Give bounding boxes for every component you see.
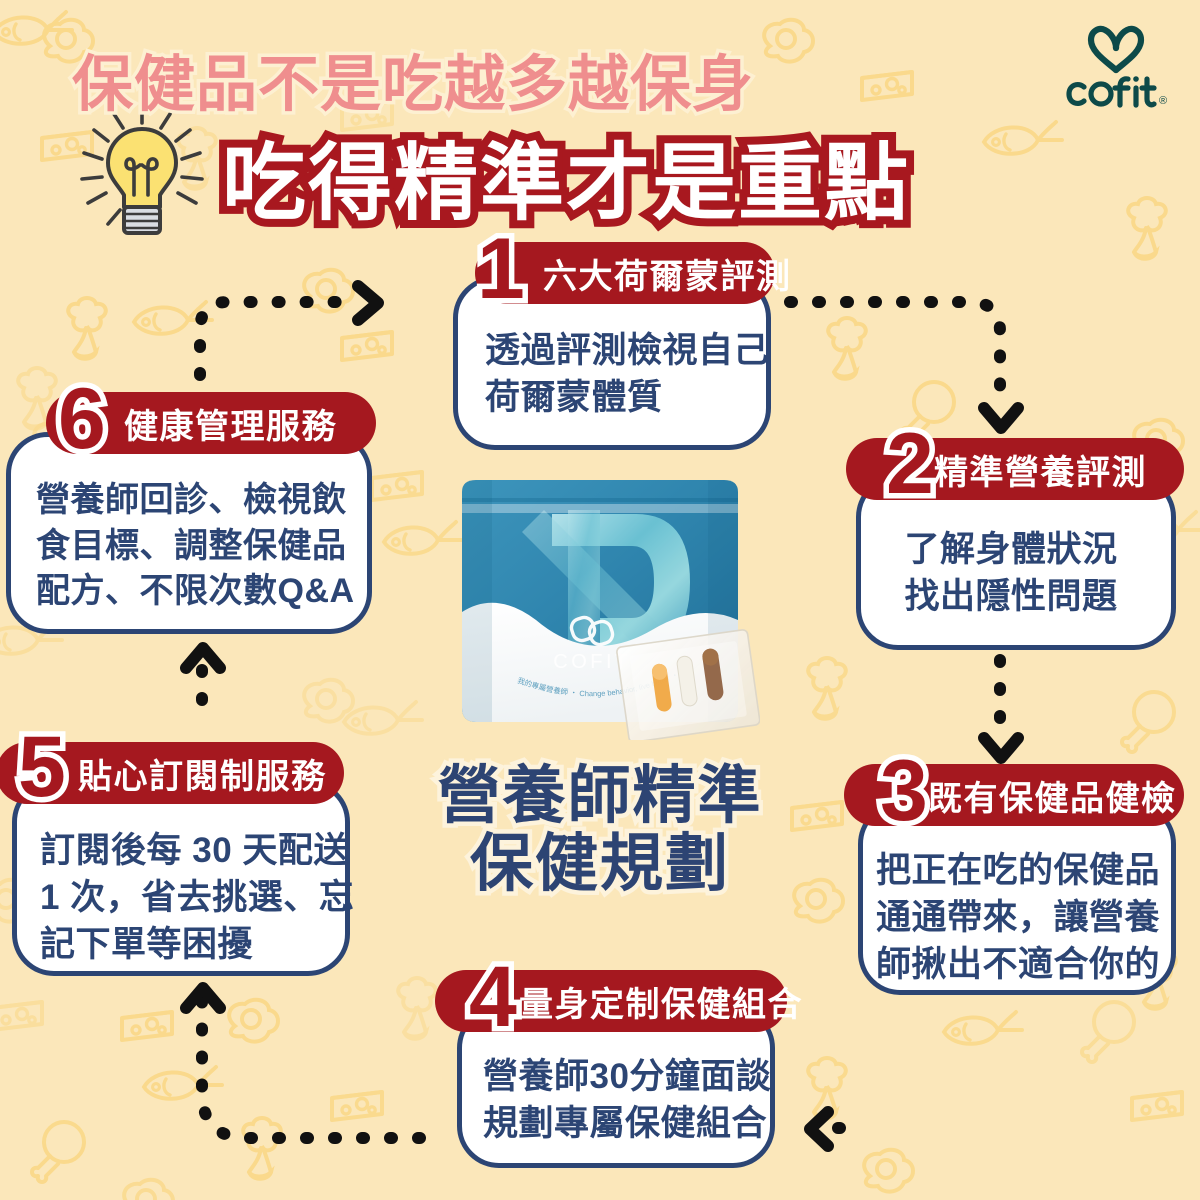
arrowhead-to-1 [358,286,378,320]
step-card-6-text: 營養師回診、檢視飲 食目標、調整保健品 配方、不限次數Q&A [36,478,355,615]
step-card-3-text: 把正在吃的保健品 通通帶來，讓營養 師揪出不適合你的 [876,848,1160,989]
arrow-4-to-5-path [202,1000,420,1138]
cofit-heart-loops-icon [1085,24,1147,74]
arrow-6-to-1-path [200,302,352,375]
step-card-4-title: 量身定制保健組合 [519,977,803,1026]
step-card-5-title: 貼心訂閱制服務 [78,749,327,798]
infographic-canvas: ® 保健品不是吃越多越保身 吃得精準才是重點 [0,0,1200,1200]
step-card-3[interactable]: 既有保健品健檢 3 把正在吃的保健品 通通帶來，讓營養 師揪出不適合你的 [844,750,1184,995]
arrow-1-to-2-path [790,302,1000,400]
page-title: 吃得精準才是重點 [222,116,910,237]
headline-eyebrow: 保健品不是吃越多越保身 [72,34,754,123]
step-card-5[interactable]: 貼心訂閱制服務 5 訂閱後每 30 天配送 1 次，省去挑選、忘 記下單等困擾 [0,730,372,976]
step-number-4: 4 [469,954,517,1040]
step-card-6-title: 健康管理服務 [124,399,337,448]
step-card-1-text: 透過評測檢視自己 荷爾蒙體質 [485,328,769,422]
step-number-2: 2 [886,421,934,507]
step-card-2-title: 精準營養評測 [934,445,1147,494]
center-headline: 營養師精準 保健規劃 [400,762,800,898]
step-number-5: 5 [18,724,66,810]
step-card-1[interactable]: 六大荷爾蒙評測 1 透過評測檢視自己 荷爾蒙體質 [435,228,780,450]
arrowhead-to-4 [810,1112,828,1146]
registered-mark: ® [1159,95,1167,107]
center-headline-line1: 營養師精準 [400,762,800,830]
step-number-3: 3 [880,748,928,834]
step-card-4-text: 營養師30分鐘面談 規劃專屬保健組合 [483,1054,771,1148]
step-number-1: 1 [477,226,525,312]
capsule-sachet [616,629,760,740]
step-card-3-title: 既有保健品健檢 [928,771,1177,820]
step-card-2[interactable]: 精準營養評測 2 了解身體狀況 找出隱性問題 [846,425,1181,650]
cofit-logo: ® [1060,24,1172,110]
step-card-2-text: 了解身體狀況 找出隱性問題 [846,527,1176,621]
step-card-6[interactable]: 健康管理服務 6 營養師回診、檢視飲 食目標、調整保健品 配方、不限次數Q&A [14,380,394,634]
step-card-4[interactable]: 量身定制保健組合 4 營養師30分鐘面談 規劃專屬保健組合 [435,958,787,1158]
cofit-supplement-pouch: COFIT 我的專屬營養師 ・ Change behavior, live be… [440,470,760,740]
cofit-wordmark [1065,74,1157,110]
step-card-5-text: 訂閱後每 30 天配送 1 次，省去挑選、忘 記下單等困擾 [40,828,354,969]
step-card-1-title: 六大荷爾蒙評測 [543,249,792,298]
step-number-6: 6 [58,376,106,462]
lightbulb-icon [78,103,208,248]
center-headline-line2: 保健規劃 [400,830,800,898]
